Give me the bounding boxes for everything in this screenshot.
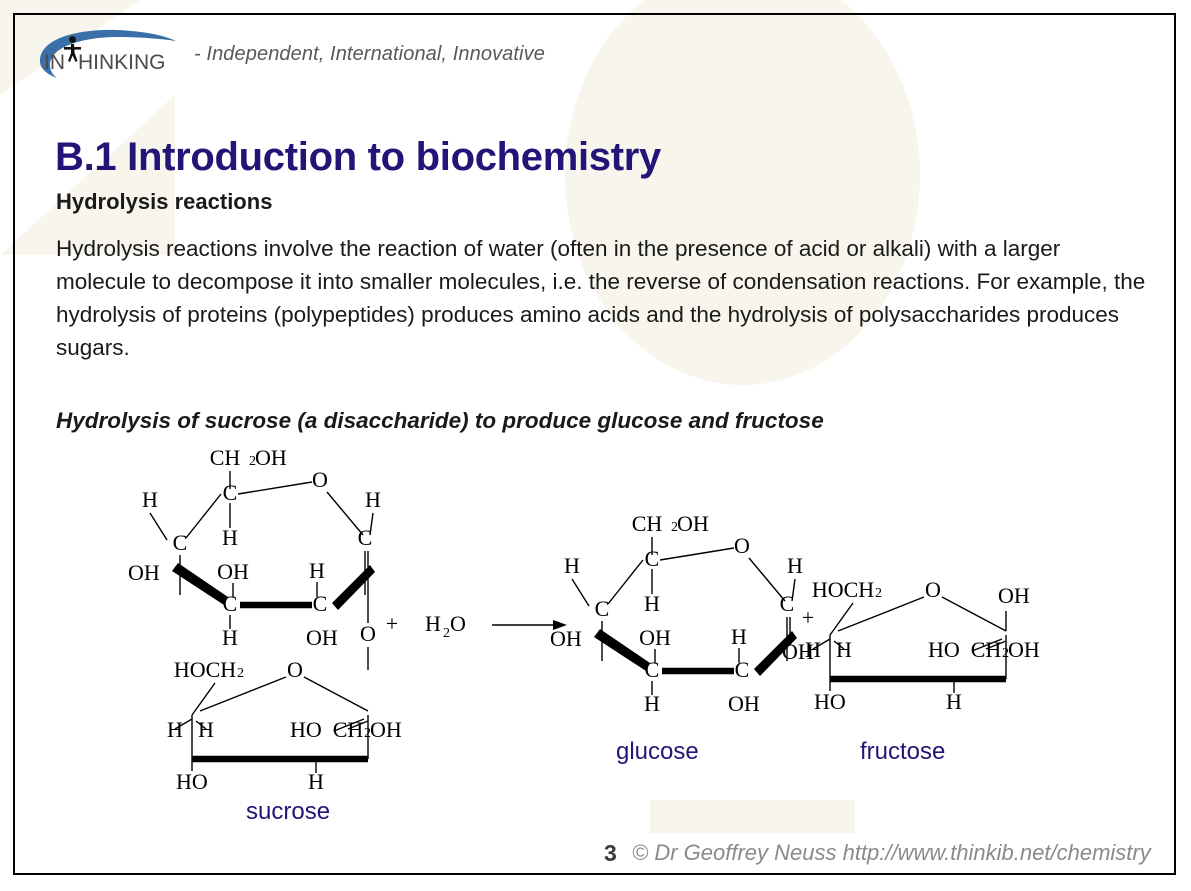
svg-text:OH: OH <box>370 717 402 742</box>
svg-text:C: C <box>173 530 188 555</box>
slide-canvas: IN HINKING - Independent, International,… <box>0 0 1191 891</box>
copyright-credit: © Dr Geoffrey Neuss http://www.thinkib.n… <box>632 840 1151 866</box>
svg-text:HO: HO <box>176 769 208 794</box>
svg-text:O: O <box>360 621 376 646</box>
inthinking-logo[interactable]: IN HINKING <box>30 27 180 81</box>
svg-text:OH: OH <box>1008 637 1040 662</box>
svg-text:O: O <box>734 533 750 558</box>
svg-text:OH: OH <box>306 625 338 650</box>
svg-text:HOCH: HOCH <box>812 577 874 602</box>
svg-text:OH: OH <box>128 560 160 585</box>
svg-text:O: O <box>925 577 941 602</box>
svg-text:O: O <box>287 657 303 682</box>
svg-text:H: H <box>836 637 852 662</box>
svg-text:H: H <box>564 553 580 578</box>
svg-text:C: C <box>735 657 750 682</box>
svg-text:C: C <box>645 546 660 571</box>
caption-glucose: glucose <box>616 738 699 766</box>
svg-text:H: H <box>805 637 821 662</box>
svg-text:2: 2 <box>875 586 882 601</box>
slide-header: IN HINKING - Independent, International,… <box>30 26 545 82</box>
svg-text:+: + <box>386 611 398 636</box>
svg-text:C: C <box>223 591 238 616</box>
logo-wordmark-hinking: HINKING <box>78 51 166 74</box>
svg-text:HO: HO <box>928 637 960 662</box>
page-title: B.1 Introduction to biochemistry <box>55 135 661 180</box>
glucose-product-ring: CH 2 OH C O C C C C H H OH <box>550 511 814 716</box>
svg-text:C: C <box>595 596 610 621</box>
svg-text:H: H <box>309 558 325 583</box>
svg-text:OH: OH <box>217 559 249 584</box>
svg-text:H: H <box>425 611 441 636</box>
sucrose-fructofuranose-ring: HOCH 2 O H H HO HO CH 2 <box>167 657 402 794</box>
svg-text:H: H <box>222 525 238 550</box>
water-reagent-and-arrow: + H 2 O <box>386 611 567 641</box>
svg-text:C: C <box>780 591 795 616</box>
svg-text:2: 2 <box>237 666 244 681</box>
svg-text:H: H <box>731 624 747 649</box>
svg-text:O: O <box>450 611 466 636</box>
svg-text:OH: OH <box>677 511 709 536</box>
svg-text:OH: OH <box>550 626 582 651</box>
svg-text:H: H <box>142 487 158 512</box>
svg-text:2: 2 <box>443 626 450 641</box>
svg-text:HOCH: HOCH <box>174 657 236 682</box>
logo-wordmark-in: IN <box>44 51 65 74</box>
svg-text:OH: OH <box>728 691 760 716</box>
watermark-rectangle <box>650 800 855 833</box>
svg-text:OH: OH <box>998 583 1030 608</box>
caption-fructose: fructose <box>860 738 945 766</box>
svg-text:CH: CH <box>632 511 663 536</box>
svg-text:H: H <box>787 553 803 578</box>
header-tagline: - Independent, International, Innovative <box>194 43 545 66</box>
svg-text:O: O <box>312 467 328 492</box>
fructose-product-ring: HOCH 2 O H H HO HO CH 2 OH <box>805 577 1040 714</box>
svg-text:C: C <box>313 591 328 616</box>
svg-text:OH: OH <box>255 445 287 470</box>
caption-sucrose: sucrose <box>246 798 330 826</box>
product-plus-sign: + <box>802 605 814 630</box>
svg-text:HO: HO <box>290 717 322 742</box>
svg-text:CH: CH <box>210 445 241 470</box>
svg-text:H: H <box>198 717 214 742</box>
section-subheading: Hydrolysis reactions <box>56 189 272 215</box>
svg-text:C: C <box>645 657 660 682</box>
svg-text:HO: HO <box>814 689 846 714</box>
svg-text:C: C <box>358 525 373 550</box>
svg-text:H: H <box>167 717 183 742</box>
svg-text:H: H <box>644 591 660 616</box>
body-paragraph: Hydrolysis reactions involve the reactio… <box>56 232 1146 364</box>
sucrose-glucopyranose-ring: CH 2 OH C O C C C C H <box>128 445 381 670</box>
svg-text:OH: OH <box>639 625 671 650</box>
equation-title: Hydrolysis of sucrose (a disaccharide) t… <box>56 408 824 434</box>
svg-text:C: C <box>223 480 238 505</box>
slide-footer: 3 © Dr Geoffrey Neuss http://www.thinkib… <box>0 840 1191 882</box>
svg-text:H: H <box>365 487 381 512</box>
page-number: 3 <box>604 840 617 867</box>
